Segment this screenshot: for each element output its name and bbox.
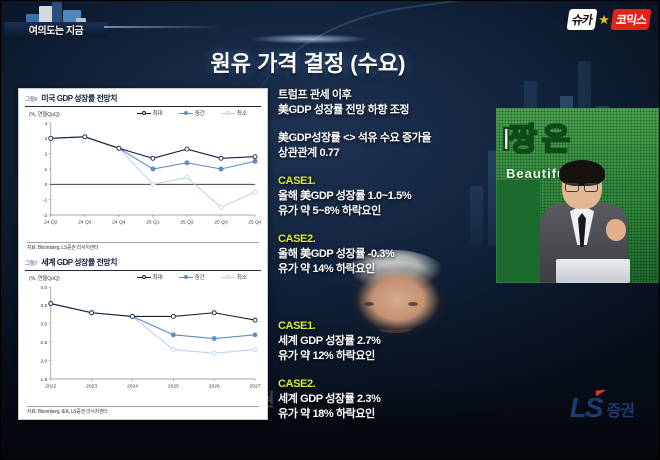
svg-text:-1: -1 — [43, 197, 48, 203]
legend-label-mid: 중간 — [195, 273, 205, 281]
figure-unit-label: (%, 연율QoQ) — [29, 110, 59, 118]
svg-text:25 Q1: 25 Q1 — [146, 219, 160, 225]
bullet-line: 유가 약 14% 하락요인 — [278, 262, 493, 277]
program-logo-band: 여의도는 지금 — [4, 22, 108, 37]
bullet-block-1: 트럼프 관세 이후 美GDP 성장률 전망 하향 조정 — [278, 88, 493, 118]
svg-text:4: 4 — [45, 121, 48, 127]
svg-text:2.0: 2.0 — [40, 358, 47, 364]
case-block-4: CASE2. 세계 GDP 성장률 2.3% 유가 약 18% 하락요인 — [278, 377, 493, 422]
legend-item-max: 최대 — [137, 109, 163, 117]
program-logo-rule — [104, 26, 224, 28]
bullet-line: 유가 약 5~8% 하락요인 — [278, 204, 493, 219]
svg-text:2: 2 — [45, 151, 48, 157]
chart-us-gdp: 43210-1-224 Q224 Q324 Q425 Q125 Q225 Q32… — [25, 119, 261, 231]
bullet-line: 트럼프 관세 이후 — [278, 88, 493, 103]
presenter-video: l짱 은 Beautiful F — [496, 108, 660, 283]
figure-title: 미국 GDP 성장률 전망치 — [41, 93, 117, 104]
title-glow — [250, 34, 370, 44]
case-heading: CASE2. — [278, 377, 493, 392]
slide-title: 원유 가격 결정 (수요) — [118, 45, 498, 79]
figure-legend: 최대 중간 최소 — [137, 109, 247, 117]
svg-text:25 Q4: 25 Q4 — [248, 219, 261, 225]
report-panel: 그림6 미국 GDP 성장률 전망치 (%, 연율QoQ) 최대 중간 최소 — [18, 88, 268, 420]
legend-item-mid: 중간 — [179, 109, 205, 117]
figure-number: 그림7 — [25, 259, 37, 267]
bullet-line: 올해 美GDP 성장률 -0.3% — [278, 247, 493, 262]
svg-text:2.5: 2.5 — [40, 340, 47, 346]
svg-text:24 Q2: 24 Q2 — [44, 219, 58, 225]
figure-title: 세계 GDP 성장률 전망치 — [41, 257, 117, 268]
bullet-line: 美GDP 성장률 전망 하향 조정 — [278, 103, 493, 118]
svg-text:3: 3 — [45, 136, 48, 142]
svg-text:2023: 2023 — [86, 383, 97, 389]
chart-world-gdp: 4.03.53.02.52.01.52022202320242025202620… — [25, 283, 261, 395]
legend-label-max: 최대 — [153, 273, 163, 281]
legend-item-max: 최대 — [137, 273, 163, 281]
case-block-2: CASE2. 올해 美GDP 성장률 -0.3% 유가 약 14% 하락요인 — [278, 232, 493, 277]
svg-text:24 Q4: 24 Q4 — [112, 219, 126, 225]
bullet-line: 美GDP성장률 <> 석유 수요 증가율 — [278, 131, 493, 146]
figure-header: 그림7 세계 GDP 성장률 전망치 — [25, 257, 261, 271]
bullet-line: 유가 약 12% 하락요인 — [278, 349, 493, 364]
case-heading: CASE1. — [278, 319, 493, 334]
svg-text:2022: 2022 — [45, 383, 56, 389]
svg-text:3.5: 3.5 — [40, 303, 47, 309]
channel-logo-part1: 슈카 — [567, 9, 598, 30]
red-tick-icon — [595, 389, 607, 396]
figure-world-gdp: 그림7 세계 GDP 성장률 전망치 (%, 연율QoQ) 최대 중간 최소 — [25, 257, 261, 415]
figure-unit-label: (%, 연율QoQ) — [29, 274, 59, 282]
slide-bullets: 트럼프 관세 이후 美GDP 성장률 전망 하향 조정 美GDP성장률 <> 석… — [278, 88, 493, 435]
svg-text:25 Q2: 25 Q2 — [180, 219, 194, 225]
case-block-1: CASE1. 올해 美GDP 성장률 1.0~1.5% 유가 약 5~8% 하락… — [278, 174, 493, 219]
svg-text:1.5: 1.5 — [40, 377, 47, 383]
presenter-video-border — [496, 108, 660, 283]
legend-label-max: 최대 — [153, 109, 163, 117]
channel-logo-part2: 코믹스 — [610, 9, 651, 30]
broker-logo: LS 증권 — [570, 394, 634, 422]
bullet-line: 상관관계 0.77 — [278, 146, 493, 161]
svg-text:2026: 2026 — [209, 383, 220, 389]
svg-text:3.0: 3.0 — [40, 322, 47, 328]
legend-item-min: 최소 — [221, 273, 247, 281]
bullet-line: 유가 약 18% 하락요인 — [278, 407, 493, 422]
svg-text:4.0: 4.0 — [40, 285, 47, 291]
figure-number: 그림6 — [25, 95, 37, 103]
legend-item-min: 최소 — [221, 109, 247, 117]
legend-label-mid: 중간 — [195, 109, 205, 117]
svg-text:2025: 2025 — [168, 383, 179, 389]
figure-source: 자료: Bloomberg, IEA, LS증권 리서치센터 — [27, 406, 259, 415]
broker-logo-mark: LS — [570, 394, 602, 422]
bullet-line: 세계 GDP 성장률 2.7% — [278, 334, 493, 349]
legend-label-min: 최소 — [237, 109, 247, 117]
program-logo-label: 여의도는 지금 — [29, 22, 83, 37]
svg-text:0: 0 — [45, 182, 48, 188]
case-heading: CASE2. — [278, 232, 493, 247]
bullet-block-2: 美GDP성장률 <> 석유 수요 증가율 상관관계 0.77 — [278, 131, 493, 161]
figure-header: 그림6 미국 GDP 성장률 전망치 — [25, 93, 261, 107]
legend-item-mid: 중간 — [179, 273, 205, 281]
case-block-3: CASE1. 세계 GDP 성장률 2.7% 유가 약 12% 하락요인 — [278, 319, 493, 364]
svg-text:24 Q3: 24 Q3 — [78, 219, 92, 225]
bullet-line: 세계 GDP 성장률 2.3% — [278, 392, 493, 407]
bullet-line: 올해 美GDP 성장률 1.0~1.5% — [278, 189, 493, 204]
broker-logo-label: 증권 — [607, 404, 634, 422]
figure-source: 자료: Bloomberg, LS증권 리서치센터 — [27, 242, 259, 251]
svg-text:-2: -2 — [43, 213, 48, 219]
broadcast-screen: 여의도는 지금 슈카 ★ 코믹스 원유 가격 결정 (수요) 그림6 미국 GD… — [0, 0, 660, 460]
star-icon: ★ — [598, 13, 610, 26]
svg-text:1: 1 — [45, 167, 48, 173]
legend-label-min: 최소 — [237, 273, 247, 281]
svg-text:25 Q3: 25 Q3 — [214, 219, 228, 225]
figure-legend: 최대 중간 최소 — [137, 273, 247, 281]
watermark-text: 권 — [258, 386, 274, 412]
figure-us-gdp: 그림6 미국 GDP 성장률 전망치 (%, 연율QoQ) 최대 중간 최소 — [25, 93, 261, 251]
case-heading: CASE1. — [278, 174, 493, 189]
program-logo: 여의도는 지금 — [4, 2, 108, 42]
channel-logo: 슈카 ★ 코믹스 — [568, 6, 650, 32]
svg-text:2024: 2024 — [127, 383, 138, 389]
